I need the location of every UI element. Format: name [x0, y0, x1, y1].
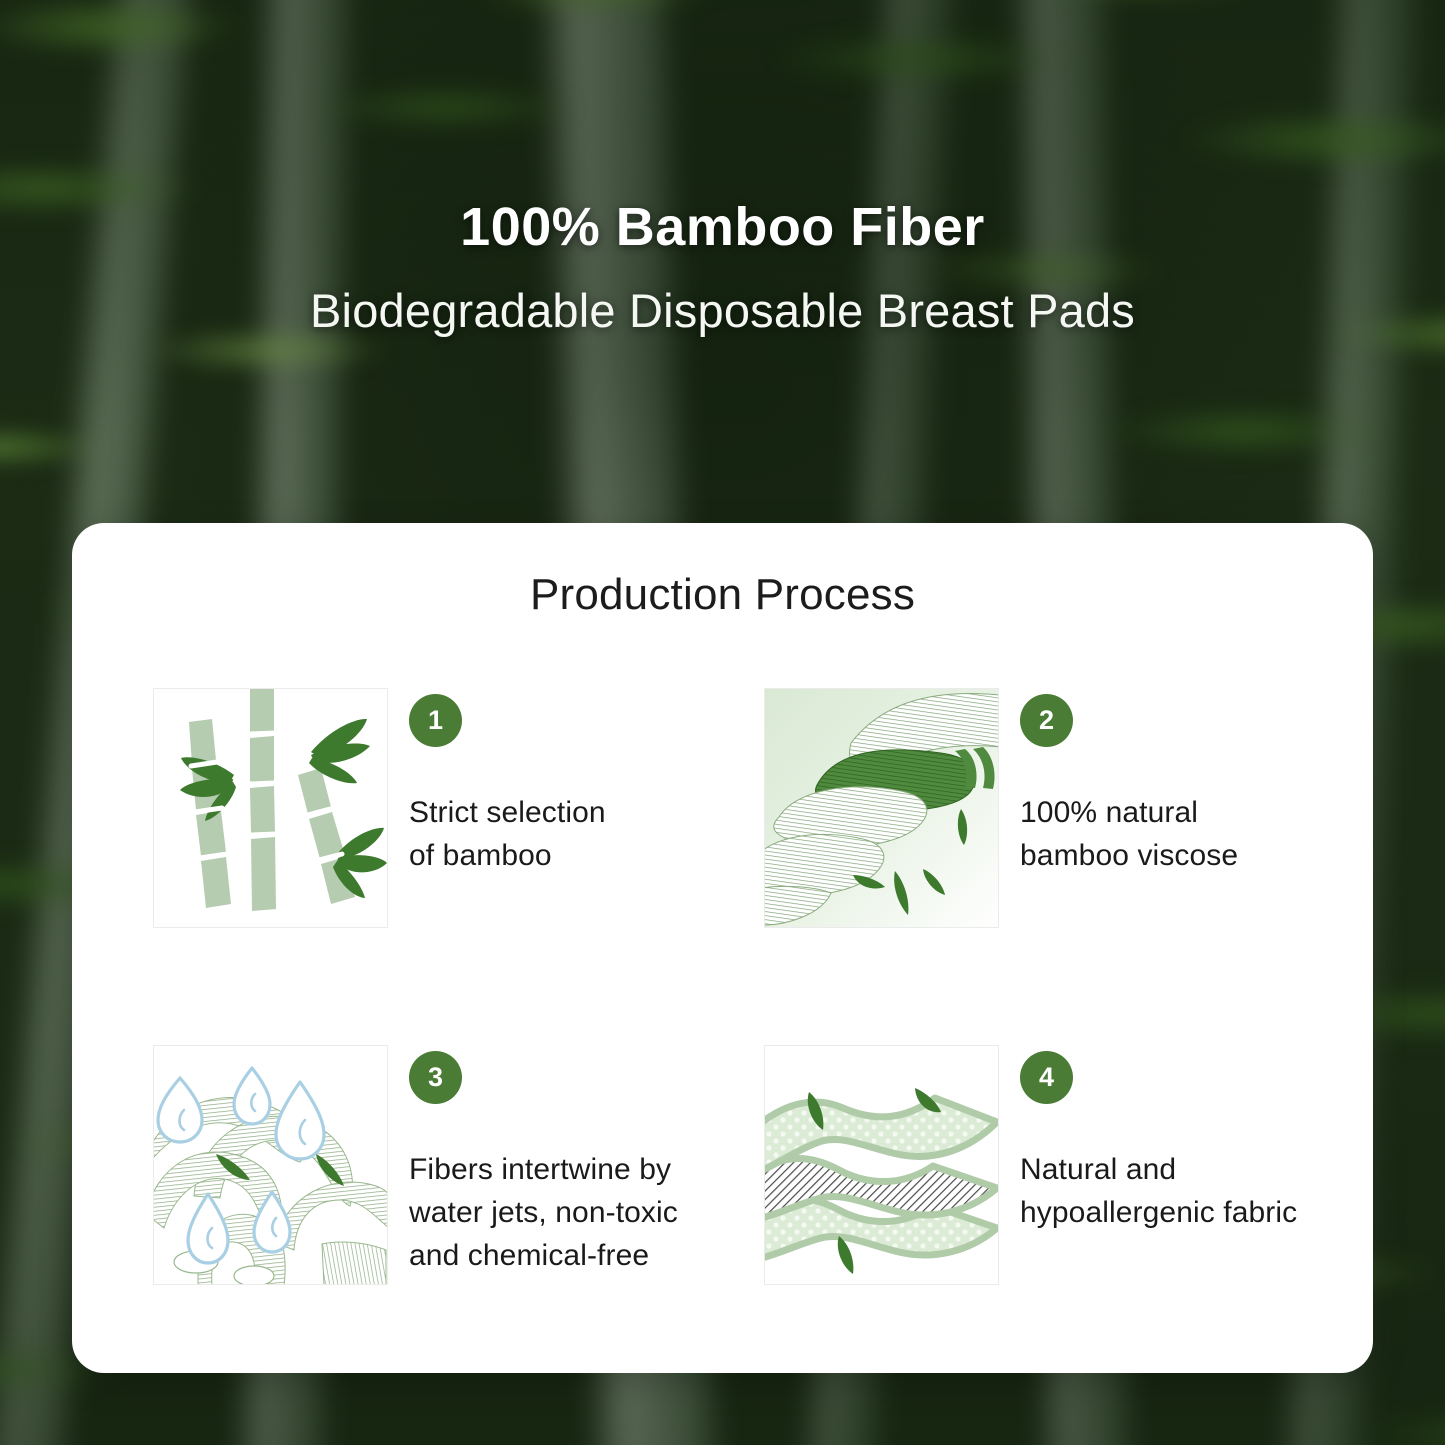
step-2-badge: 2	[1020, 694, 1073, 747]
production-process-card: Production Process	[72, 523, 1373, 1373]
step-1-label: Strict selection of bamboo	[409, 792, 687, 878]
step-4-thumbnail	[764, 1045, 999, 1285]
step-3-badge: 3	[409, 1051, 462, 1104]
hero-subtitle: Biodegradable Disposable Breast Pads	[0, 284, 1445, 338]
hero-title: 100% Bamboo Fiber	[0, 196, 1445, 258]
bamboo-viscose-fiber-icon	[765, 689, 999, 928]
step-4-label: Natural and hypoallergenic fabric	[1020, 1149, 1298, 1235]
step-2-label: 100% natural bamboo viscose	[1020, 792, 1298, 878]
hero-heading-block: 100% Bamboo Fiber Biodegradable Disposab…	[0, 196, 1445, 338]
fibers-water-jets-icon	[154, 1046, 388, 1285]
process-step-1: 1 Strict selection of bamboo	[153, 688, 687, 928]
step-2-thumbnail	[764, 688, 999, 928]
process-step-3: 3 Fibers intertwine by water jets, non-t…	[153, 1045, 687, 1285]
process-steps-grid: 1 Strict selection of bamboo	[153, 688, 1298, 1285]
step-4-body: 4 Natural and hypoallergenic fabric	[999, 1045, 1298, 1235]
bamboo-stalks-icon	[154, 689, 388, 928]
step-3-label: Fibers intertwine by water jets, non-tox…	[409, 1149, 687, 1278]
step-3-thumbnail	[153, 1045, 388, 1285]
step-2-body: 2 100% natural bamboo viscose	[999, 688, 1298, 878]
step-1-body: 1 Strict selection of bamboo	[388, 688, 687, 878]
process-step-4: 4 Natural and hypoallergenic fabric	[764, 1045, 1298, 1285]
product-infographic-page: 100% Bamboo Fiber Biodegradable Disposab…	[0, 0, 1445, 1445]
step-1-badge: 1	[409, 694, 462, 747]
process-step-2: 2 100% natural bamboo viscose	[764, 688, 1298, 928]
layered-fabric-icon	[765, 1046, 999, 1285]
card-title: Production Process	[72, 570, 1373, 620]
step-3-body: 3 Fibers intertwine by water jets, non-t…	[388, 1045, 687, 1278]
step-4-badge: 4	[1020, 1051, 1073, 1104]
step-1-thumbnail	[153, 688, 388, 928]
